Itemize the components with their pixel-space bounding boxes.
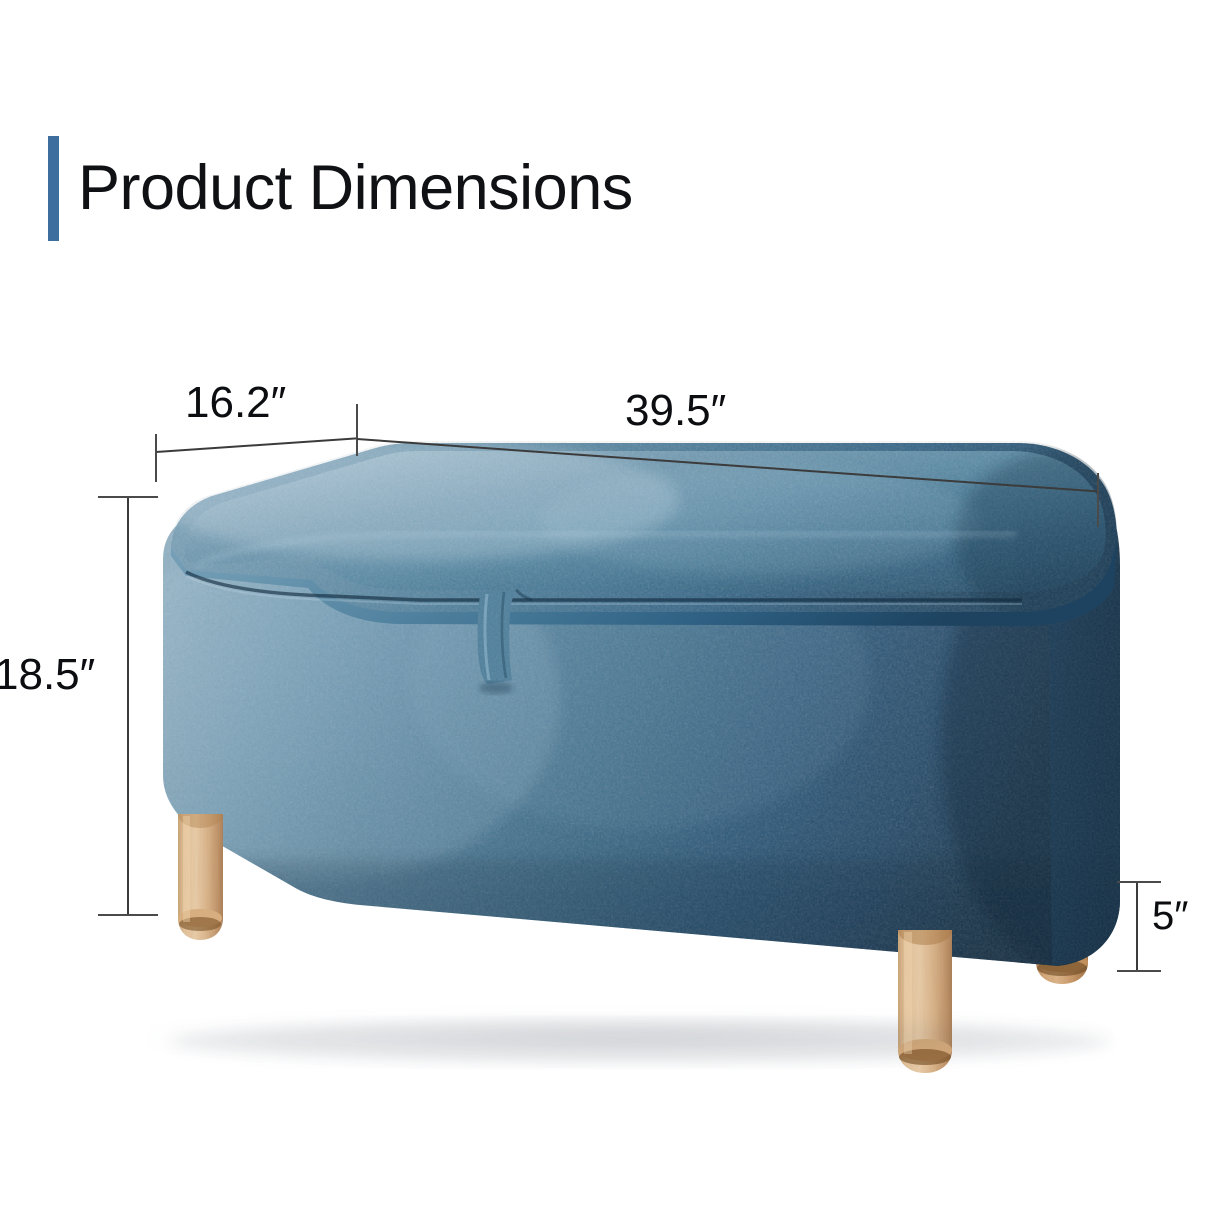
height-dimension-line [127,496,129,915]
depth-label: 16.2″ [185,378,286,428]
leg-height-tick-bottom [1117,970,1161,972]
width-label: 39.5″ [625,386,726,436]
leg-front-left [178,814,223,940]
width-tick-right [1097,473,1099,527]
leg-height-label: 5″ [1152,894,1188,939]
depth-tick-right [356,404,358,456]
depth-tick-left [155,434,157,482]
floor-shadow-overlay [150,1015,1110,1061]
height-tick-bottom [98,914,158,916]
leg-height-tick-top [1117,881,1161,883]
height-label: 18.5″ [0,650,95,700]
product-dimensions-infographic: Product Dimensions [0,0,1208,1208]
leg-height-dimension-line [1136,881,1138,972]
height-tick-top [98,496,158,498]
